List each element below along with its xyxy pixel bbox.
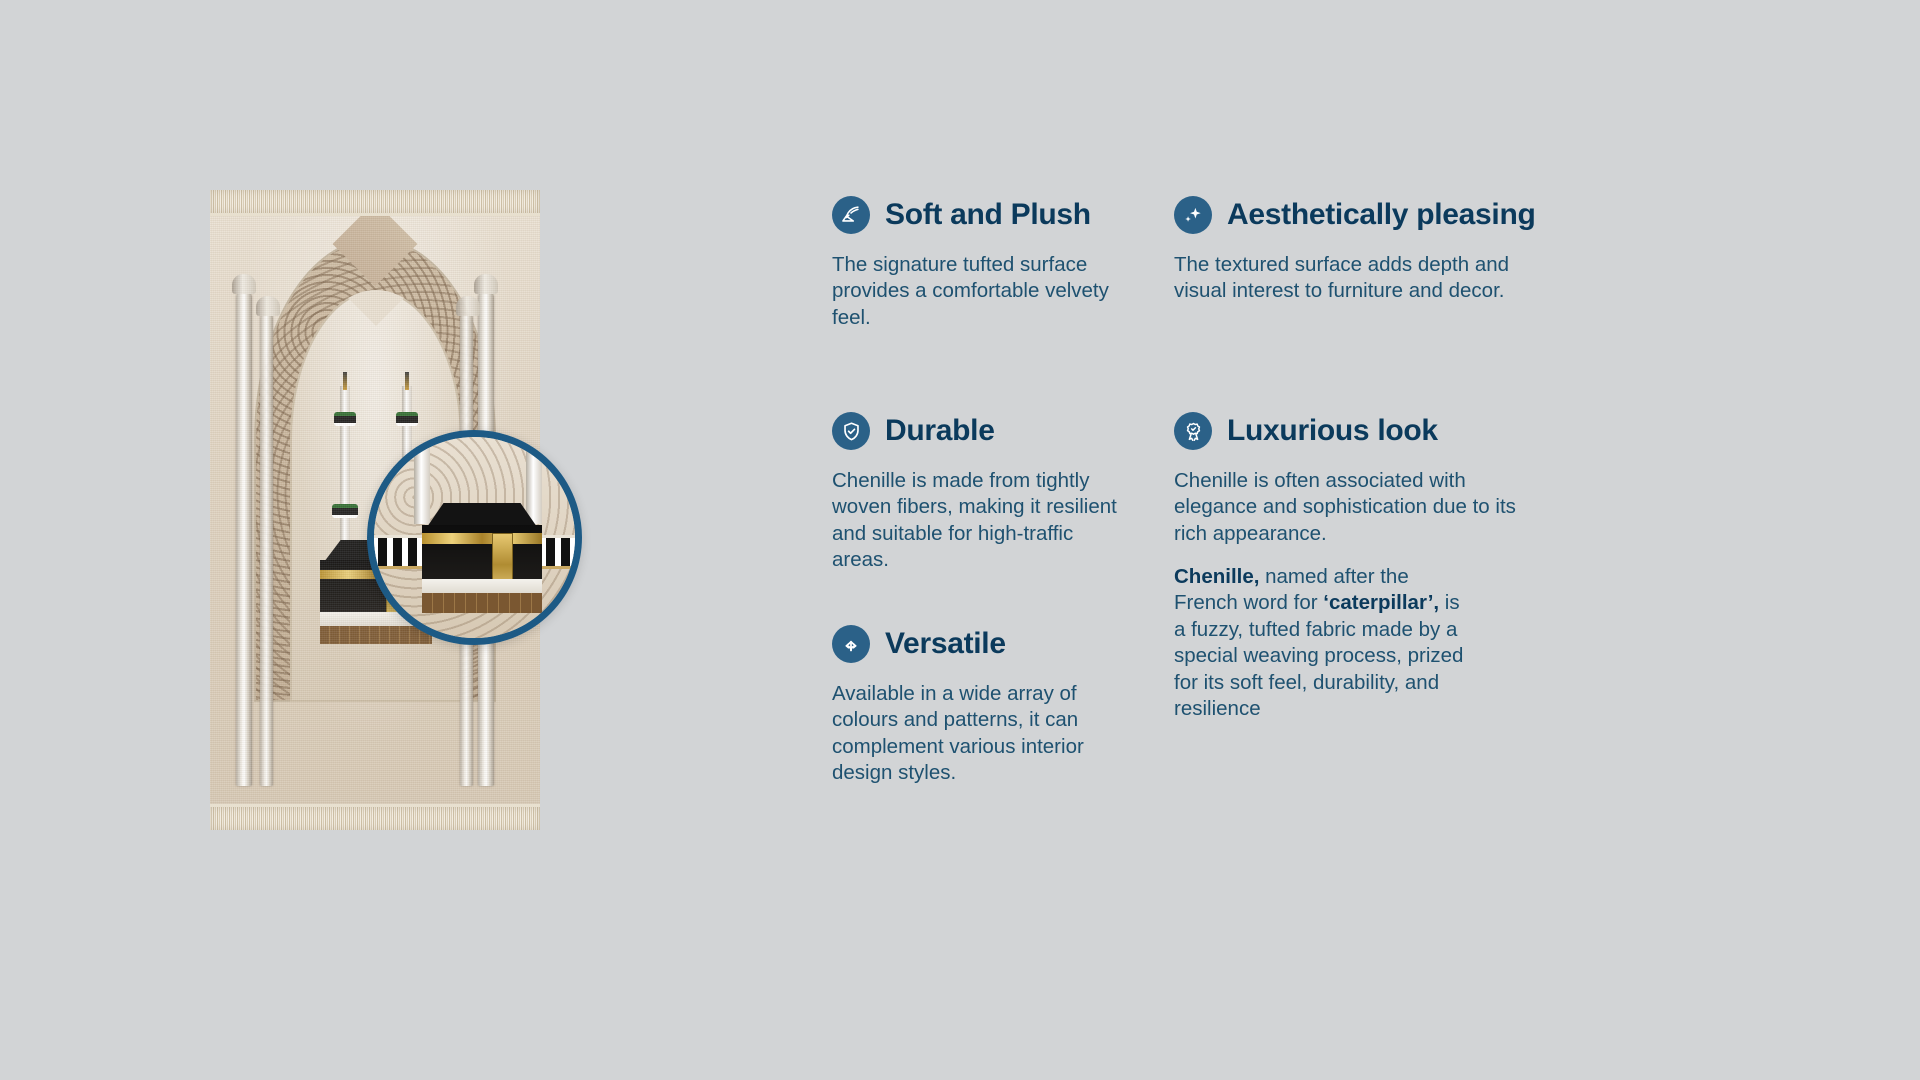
pillar-inner-left xyxy=(260,312,273,786)
feature-description: The textured surface adds depth and visu… xyxy=(1174,252,1544,305)
feature-title: Versatile xyxy=(885,629,1006,659)
sparkle-icon xyxy=(1174,196,1212,234)
feature-title: Aesthetically pleasing xyxy=(1227,200,1536,230)
award-badge-icon xyxy=(1174,412,1212,450)
feature-title: Durable xyxy=(885,416,995,446)
feature-description: Available in a wide array of colours and… xyxy=(832,681,1127,787)
chenille-definition: Chenille, named after the French word fo… xyxy=(1174,564,1474,723)
feature-header: Aesthetically pleasing xyxy=(1174,196,1644,234)
zoom-kaaba xyxy=(422,503,542,615)
feather-plush-icon xyxy=(832,196,870,234)
minaret-left xyxy=(334,386,356,566)
feature-header: Luxurious look xyxy=(1174,412,1644,450)
shield-check-icon xyxy=(832,412,870,450)
chenille-definition-block: Chenille, named after the French word fo… xyxy=(1174,564,1644,723)
feature-title: Luxurious look xyxy=(1227,416,1438,446)
feature-description: The signature tufted surface provides a … xyxy=(832,252,1127,331)
feature-description: Chenille is made from tightly woven fibe… xyxy=(832,468,1127,574)
feature-title: Soft and Plush xyxy=(885,200,1091,230)
definition-lead: Chenille, xyxy=(1174,565,1259,588)
product-image-area xyxy=(210,190,540,830)
feature-description: Chenille is often associated with elegan… xyxy=(1174,468,1544,547)
pillar-outer-left xyxy=(236,290,252,786)
mat-fringe-top xyxy=(210,190,540,216)
feature-luxurious-look: Luxurious look Chenille is often associa… xyxy=(1174,412,1644,547)
feature-aesthetically-pleasing: Aesthetically pleasing The textured surf… xyxy=(1174,196,1644,305)
definition-emphasis: ‘caterpillar’, xyxy=(1323,591,1439,614)
four-way-arrows-icon xyxy=(832,625,870,663)
zoom-detail-circle xyxy=(367,430,582,645)
mat-fringe-bottom xyxy=(210,804,540,830)
